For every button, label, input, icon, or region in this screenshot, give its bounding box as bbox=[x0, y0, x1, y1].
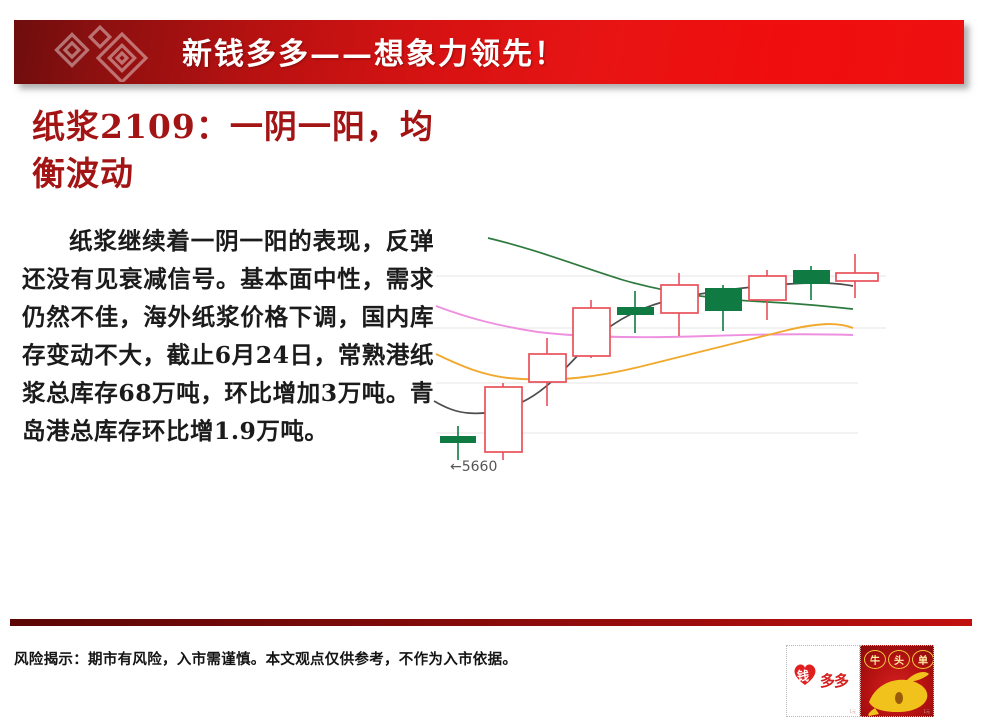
candle-series bbox=[440, 254, 878, 460]
header-banner: 新钱多多——想象力领先！ bbox=[14, 20, 964, 84]
candle-8 bbox=[749, 270, 786, 320]
stamp-char-row: 牛 头 单 bbox=[864, 650, 934, 669]
stamp-heart-char: 钱 bbox=[797, 667, 809, 684]
stamp-right-denomination: 1元 bbox=[923, 709, 930, 715]
page-title: 纸浆2109：一阴一阳，均衡波动 bbox=[32, 104, 452, 198]
bull-head-icon bbox=[865, 668, 931, 716]
ma-orange-line bbox=[436, 324, 853, 380]
candle-10 bbox=[836, 254, 878, 298]
header-title: 新钱多多——想象力领先！ bbox=[182, 29, 566, 73]
candle-5 bbox=[617, 291, 654, 333]
stamp-char-0: 牛 bbox=[864, 650, 886, 669]
candle-6 bbox=[661, 273, 698, 336]
footer-stamps: 钱 多多 1元 牛 头 单 1元 bbox=[786, 645, 934, 717]
candlestick-chart: ←5660 bbox=[428, 228, 888, 490]
stamp-brand-text: 多多 bbox=[820, 670, 848, 691]
stamp-char-2: 单 bbox=[912, 650, 934, 669]
candle-9 bbox=[793, 266, 830, 300]
footer-disclaimer: 风险揭示：期市有风险，入市需谨慎。本文观点仅供参考，不作为入市依据。 bbox=[14, 648, 517, 669]
candle-7 bbox=[705, 285, 742, 331]
candle-2 bbox=[485, 383, 522, 460]
footer-divider bbox=[10, 619, 972, 626]
price-annotation: ←5660 bbox=[450, 459, 497, 475]
diamond-knot-logo bbox=[42, 24, 172, 82]
candle-1 bbox=[440, 426, 476, 460]
candle-4 bbox=[573, 300, 610, 358]
stamp-niutoudan: 牛 头 单 1元 bbox=[860, 645, 934, 717]
stamp-qianduoduo: 钱 多多 1元 bbox=[786, 645, 860, 717]
stamp-char-1: 头 bbox=[888, 650, 910, 669]
stamp-left-denomination: 1元 bbox=[849, 709, 856, 715]
body-paragraph: 纸浆继续着一阴一阳的表现，反弹还没有见衰减信号。基本面中性，需求仍然不佳，海外纸… bbox=[22, 222, 434, 450]
